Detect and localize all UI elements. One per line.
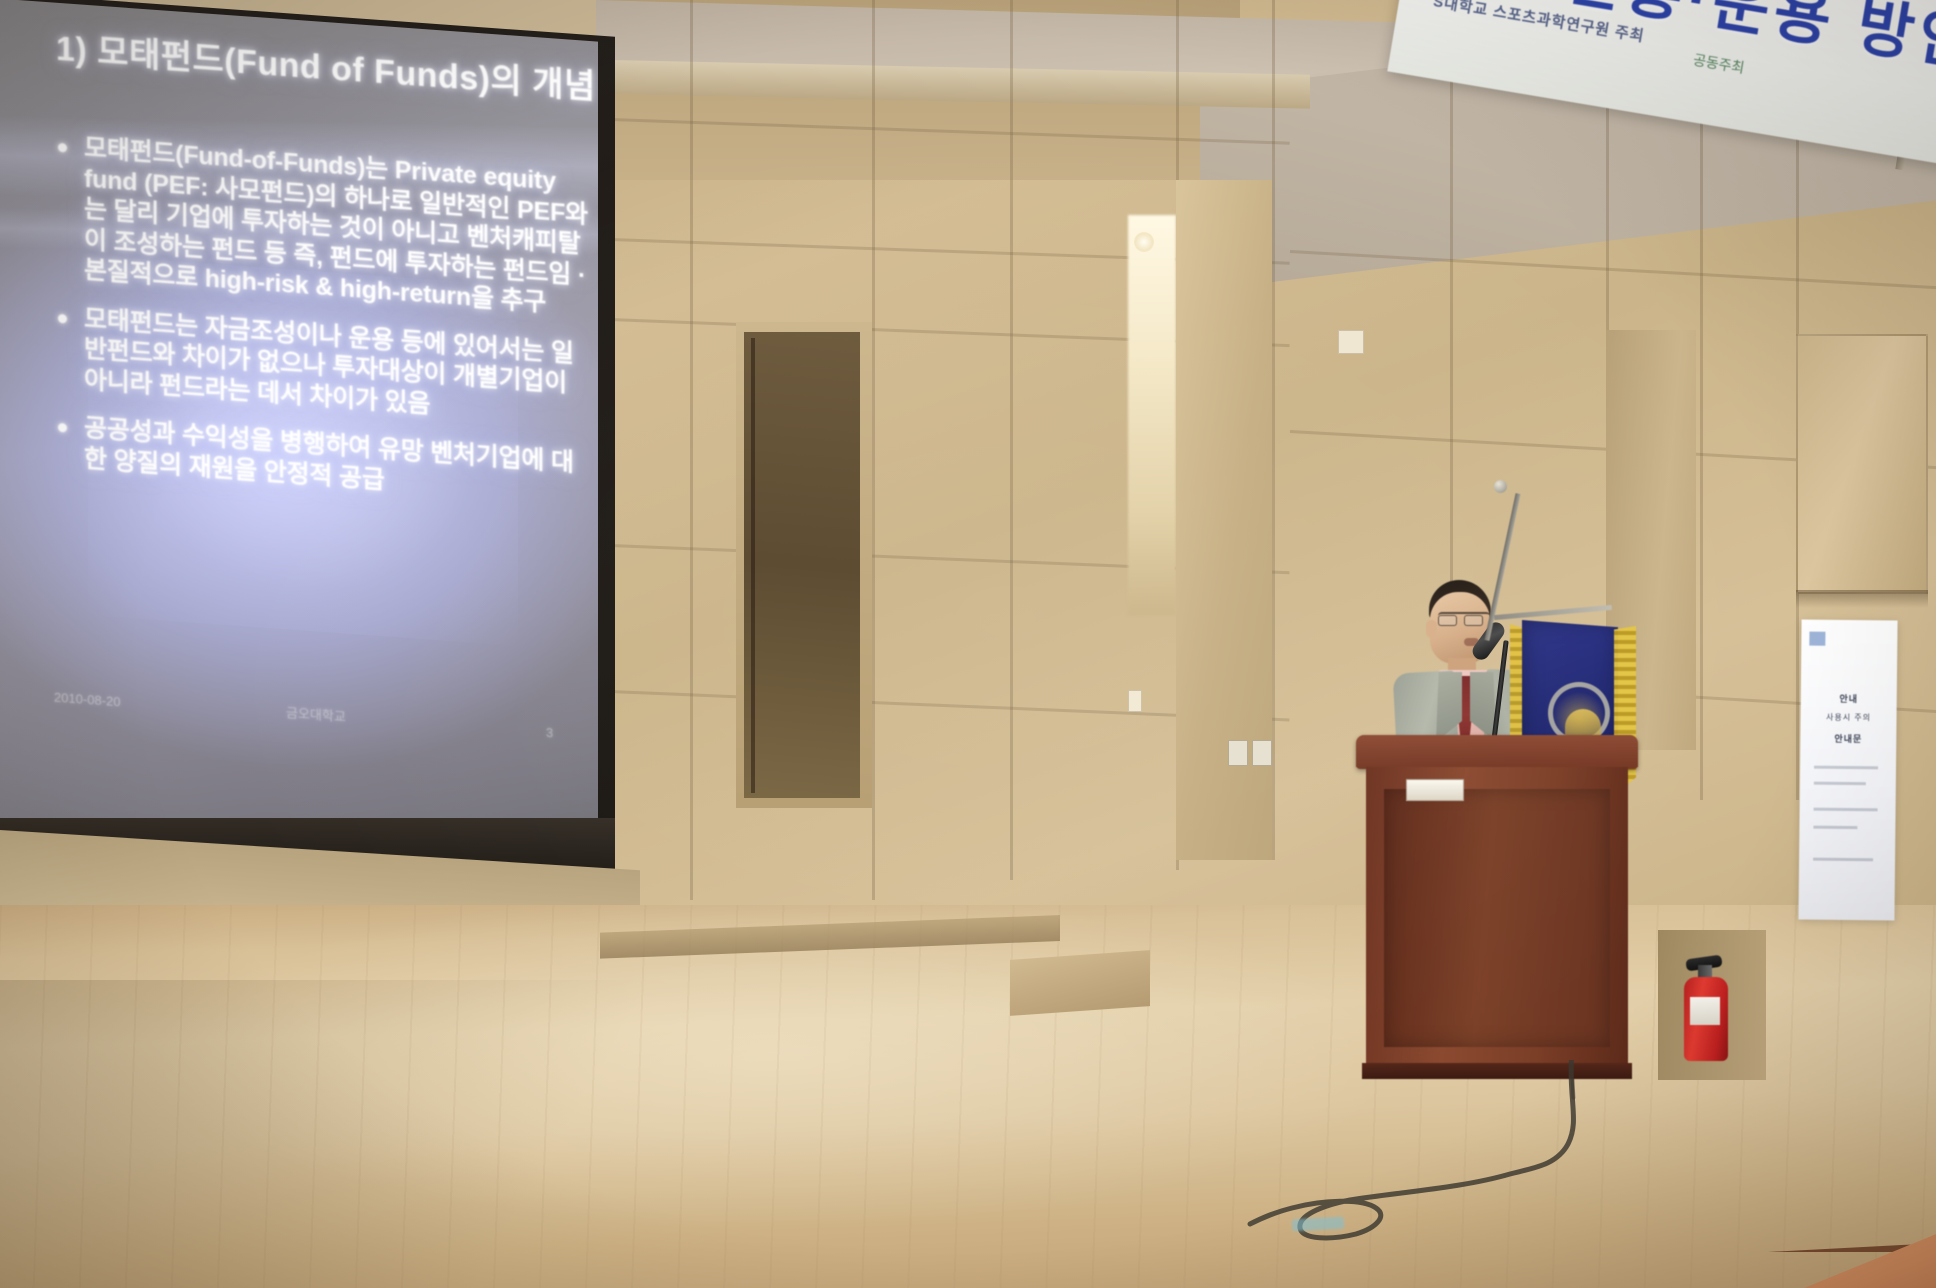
- wall-poster: 안내 사용시 주의 안내문: [1798, 620, 1897, 921]
- slide-bullet-item: 모태펀드는 자금조성이나 운용 등에 있어서는 일반펀드와 차이가 없으나 투자…: [50, 301, 590, 431]
- fire-extinguisher-icon[interactable]: [1680, 955, 1736, 1065]
- banner-title: 진흥·운용 방안: [1559, 0, 1936, 84]
- slide-bullet-text: 공공성과 수익성을 병행하여 유망 벤처기업에 대한 양질의 재원을 안정적 공…: [84, 413, 590, 510]
- poster-line-1: 사용시 주의: [1800, 712, 1896, 724]
- bullet-dot-icon: [58, 143, 67, 153]
- wall-switch[interactable]: [1252, 740, 1272, 766]
- poster-rule: [1813, 826, 1857, 829]
- slide-bullet-text: 모태펀드는 자금조성이나 운용 등에 있어서는 일반펀드와 차이가 없으나 투자…: [84, 303, 590, 431]
- wall-seam-vertical: [690, 0, 693, 900]
- wall-seam-vertical: [872, 0, 875, 900]
- lecture-hall-photo: S대학교 스포츠과학연구원 주최 진흥·운용 방안 공동주최 1) 모태펀드(F…: [0, 0, 1936, 1288]
- slide-page-number: 3: [546, 725, 553, 741]
- cabinet-shadow: [1796, 590, 1928, 608]
- ceiling-downlight-icon: [1134, 232, 1154, 252]
- banner-tail-text: 공동주최: [1692, 50, 1746, 78]
- wall-outlet[interactable]: [1228, 740, 1248, 766]
- glasses-icon: [1438, 612, 1490, 624]
- presentation-slide: 1) 모태펀드(Fund of Funds)의 개념 모태펀드(Fund-of-…: [0, 0, 598, 872]
- door-gap: [751, 338, 755, 793]
- poster-rule: [1813, 858, 1873, 862]
- glasses-lens-right: [1464, 615, 1483, 626]
- poster-rule: [1814, 782, 1866, 786]
- bullet-dot-icon: [58, 423, 67, 433]
- wall-light-column: [1128, 215, 1176, 615]
- wall-cabinet: [1796, 334, 1928, 594]
- wall-seam-vertical: [1272, 0, 1275, 860]
- podium-body: [1366, 767, 1628, 1067]
- lectern-podium: [1366, 735, 1628, 1095]
- wall-sign: [1128, 690, 1142, 712]
- wall-vent: [1338, 330, 1364, 354]
- poster-badge-icon: [1809, 632, 1825, 646]
- extinguisher-label: [1690, 997, 1720, 1025]
- poster-heading: 안내: [1801, 692, 1897, 706]
- slide-bullet-list: 모태펀드(Fund-of-Funds)는 Private equity fund…: [50, 130, 590, 528]
- slide-title: 1) 모태펀드(Fund of Funds)의 개념: [56, 21, 596, 109]
- flag-finial-icon: [1494, 480, 1507, 493]
- slide-bullet-item: 모태펀드(Fund-of-Funds)는 Private equity fund…: [50, 130, 590, 321]
- projection-screen: 1) 모태펀드(Fund of Funds)의 개념 모태펀드(Fund-of-…: [0, 0, 598, 872]
- slide-bullet-text: 모태펀드(Fund-of-Funds)는 Private equity fund…: [84, 133, 590, 322]
- speaker-ear: [1426, 620, 1437, 638]
- door-panel[interactable]: [744, 332, 860, 798]
- glasses-lens-left: [1438, 615, 1457, 626]
- slide-footer-org: 금오대학교: [286, 702, 346, 725]
- poster-rule: [1814, 766, 1878, 770]
- floor-cable: [1180, 1060, 1700, 1280]
- stage-step: [1010, 950, 1150, 1016]
- floor-shadow: [0, 980, 760, 1288]
- podium-top: [1356, 735, 1638, 769]
- slide-footer-date: 2010-08-20: [54, 690, 121, 710]
- door-frame: [736, 322, 872, 808]
- poster-rule: [1814, 808, 1878, 812]
- projection-screen-frame: 1) 모태펀드(Fund of Funds)의 개념 모태펀드(Fund-of-…: [0, 0, 615, 917]
- podium-nameplate: [1406, 779, 1464, 801]
- podium-front-panel: [1384, 789, 1610, 1047]
- bullet-dot-icon: [58, 313, 67, 323]
- poster-line-2: 안내문: [1800, 731, 1896, 745]
